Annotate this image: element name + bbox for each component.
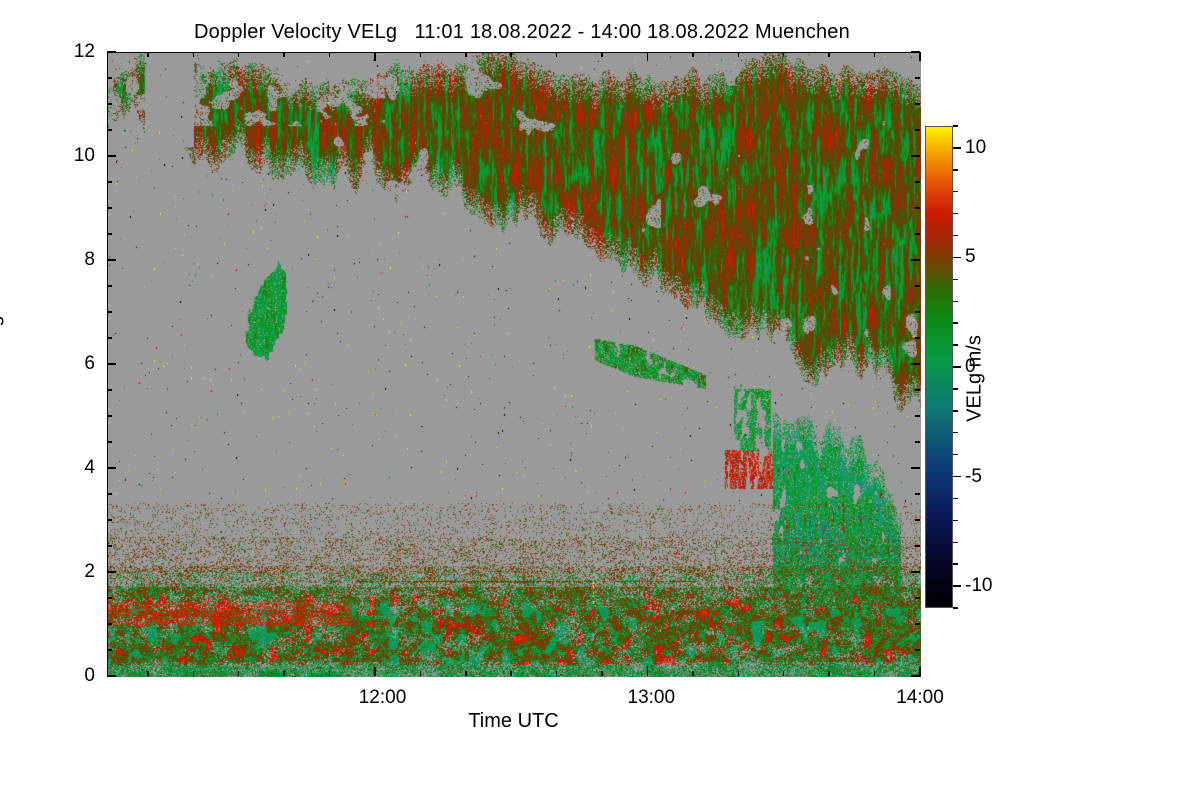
colorbar	[925, 126, 953, 608]
y-tick-label: 0	[0, 666, 95, 685]
y-tick-major	[107, 259, 116, 261]
x-tick-minor	[874, 52, 876, 57]
x-tick-minor	[783, 52, 785, 57]
colorbar-tick-label: -10	[965, 576, 992, 595]
colorbar-tick-minor	[953, 213, 958, 215]
x-tick-minor	[465, 52, 467, 57]
x-tick-minor	[692, 52, 694, 57]
y-tick-minor	[107, 207, 112, 209]
y-tick-minor	[107, 285, 112, 287]
y-tick-minor	[915, 493, 920, 495]
y-tick-label: 4	[0, 458, 95, 477]
colorbar-tick-major	[953, 366, 961, 368]
doppler-velocity-heatmap	[108, 53, 921, 677]
x-tick-label: 12:00	[323, 688, 443, 707]
x-tick-minor	[238, 671, 240, 676]
y-tick-minor	[107, 623, 112, 625]
x-tick-minor	[147, 671, 149, 676]
y-tick-major	[107, 571, 116, 573]
x-tick-minor	[556, 671, 558, 676]
colorbar-tick-minor	[953, 235, 958, 237]
colorbar-tick-minor	[953, 388, 958, 390]
x-tick-minor	[329, 52, 331, 57]
y-tick-minor	[107, 181, 112, 183]
x-tick-label: 13:00	[591, 688, 711, 707]
x-tick-label: 14:00	[860, 688, 980, 707]
colorbar-gradient	[925, 126, 953, 608]
colorbar-tick-minor	[953, 542, 958, 544]
figure-root: Doppler Velocity VELg 11:01 18.08.2022 -…	[0, 0, 1200, 800]
y-tick-minor	[915, 415, 920, 417]
y-tick-minor	[107, 441, 112, 443]
colorbar-tick-minor	[953, 279, 958, 281]
y-tick-major	[107, 51, 116, 53]
x-tick-minor	[510, 671, 512, 676]
y-tick-major	[107, 363, 116, 365]
y-tick-minor	[107, 519, 112, 521]
y-tick-label: 6	[0, 354, 95, 373]
colorbar-tick-minor	[953, 432, 958, 434]
y-tick-minor	[915, 77, 920, 79]
x-tick-major	[647, 667, 649, 676]
y-tick-minor	[915, 181, 920, 183]
x-tick-minor	[692, 671, 694, 676]
y-tick-minor	[915, 441, 920, 443]
y-tick-minor	[915, 285, 920, 287]
colorbar-tick-minor	[953, 322, 958, 324]
y-tick-label: 10	[0, 146, 95, 165]
y-tick-minor	[915, 597, 920, 599]
y-tick-minor	[107, 649, 112, 651]
x-tick-minor	[193, 52, 195, 57]
y-tick-minor	[915, 207, 920, 209]
radar-plot-area	[107, 52, 920, 676]
y-tick-label: 2	[0, 562, 95, 581]
y-tick-minor	[915, 233, 920, 235]
y-tick-minor	[107, 389, 112, 391]
colorbar-tick-major	[953, 476, 961, 478]
colorbar-tick-minor	[953, 410, 958, 412]
colorbar-title: VELg m/s	[964, 259, 987, 499]
x-tick-minor	[783, 671, 785, 676]
x-tick-minor	[601, 52, 603, 57]
y-tick-major	[107, 155, 116, 157]
colorbar-tick-minor	[953, 498, 958, 500]
y-tick-major	[911, 155, 920, 157]
colorbar-tick-minor	[953, 191, 958, 193]
x-tick-minor	[556, 52, 558, 57]
y-tick-minor	[915, 623, 920, 625]
y-tick-minor	[915, 649, 920, 651]
y-tick-minor	[107, 415, 112, 417]
y-tick-minor	[915, 103, 920, 105]
y-axis-title: Height km	[0, 212, 6, 412]
colorbar-tick-major	[953, 585, 961, 587]
colorbar-tick-minor	[953, 607, 958, 609]
y-tick-label: 8	[0, 250, 95, 269]
y-tick-minor	[107, 311, 112, 313]
x-axis-title: Time UTC	[107, 710, 920, 733]
y-tick-minor	[107, 129, 112, 131]
x-tick-minor	[283, 52, 285, 57]
x-tick-minor	[828, 52, 830, 57]
y-tick-major	[911, 363, 920, 365]
colorbar-tick-major	[953, 147, 961, 149]
colorbar-tick-minor	[953, 169, 958, 171]
x-tick-minor	[874, 671, 876, 676]
x-tick-minor	[147, 52, 149, 57]
y-tick-major	[107, 675, 116, 677]
y-tick-minor	[107, 337, 112, 339]
x-tick-minor	[238, 52, 240, 57]
y-tick-minor	[107, 493, 112, 495]
x-tick-minor	[828, 671, 830, 676]
y-tick-minor	[107, 597, 112, 599]
y-tick-minor	[915, 519, 920, 521]
y-tick-minor	[107, 103, 112, 105]
page-title: Doppler Velocity VELg 11:01 18.08.2022 -…	[0, 21, 1044, 44]
x-tick-major	[919, 52, 921, 61]
y-tick-minor	[107, 545, 112, 547]
x-tick-major	[374, 52, 376, 61]
x-tick-minor	[465, 671, 467, 676]
x-tick-minor	[601, 671, 603, 676]
colorbar-tick-minor	[953, 125, 958, 127]
x-tick-minor	[329, 671, 331, 676]
y-tick-minor	[915, 129, 920, 131]
y-tick-major	[911, 467, 920, 469]
x-tick-minor	[283, 671, 285, 676]
colorbar-tick-minor	[953, 301, 958, 303]
y-tick-minor	[915, 337, 920, 339]
x-tick-minor	[738, 52, 740, 57]
colorbar-tick-minor	[953, 454, 958, 456]
y-tick-minor	[915, 311, 920, 313]
y-tick-minor	[915, 389, 920, 391]
y-tick-major	[107, 467, 116, 469]
x-tick-minor	[193, 671, 195, 676]
colorbar-tick-minor	[953, 563, 958, 565]
y-tick-minor	[107, 77, 112, 79]
x-tick-major	[647, 52, 649, 61]
colorbar-tick-major	[953, 257, 961, 259]
colorbar-tick-label: 10	[965, 138, 986, 157]
x-tick-minor	[420, 671, 422, 676]
x-tick-minor	[510, 52, 512, 57]
colorbar-tick-minor	[953, 520, 958, 522]
x-tick-major	[919, 667, 921, 676]
y-tick-major	[911, 259, 920, 261]
x-tick-major	[374, 667, 376, 676]
y-tick-label: 12	[0, 42, 95, 61]
y-tick-minor	[915, 545, 920, 547]
y-tick-minor	[107, 233, 112, 235]
x-tick-minor	[738, 671, 740, 676]
y-tick-major	[911, 571, 920, 573]
x-tick-minor	[420, 52, 422, 57]
colorbar-tick-minor	[953, 344, 958, 346]
